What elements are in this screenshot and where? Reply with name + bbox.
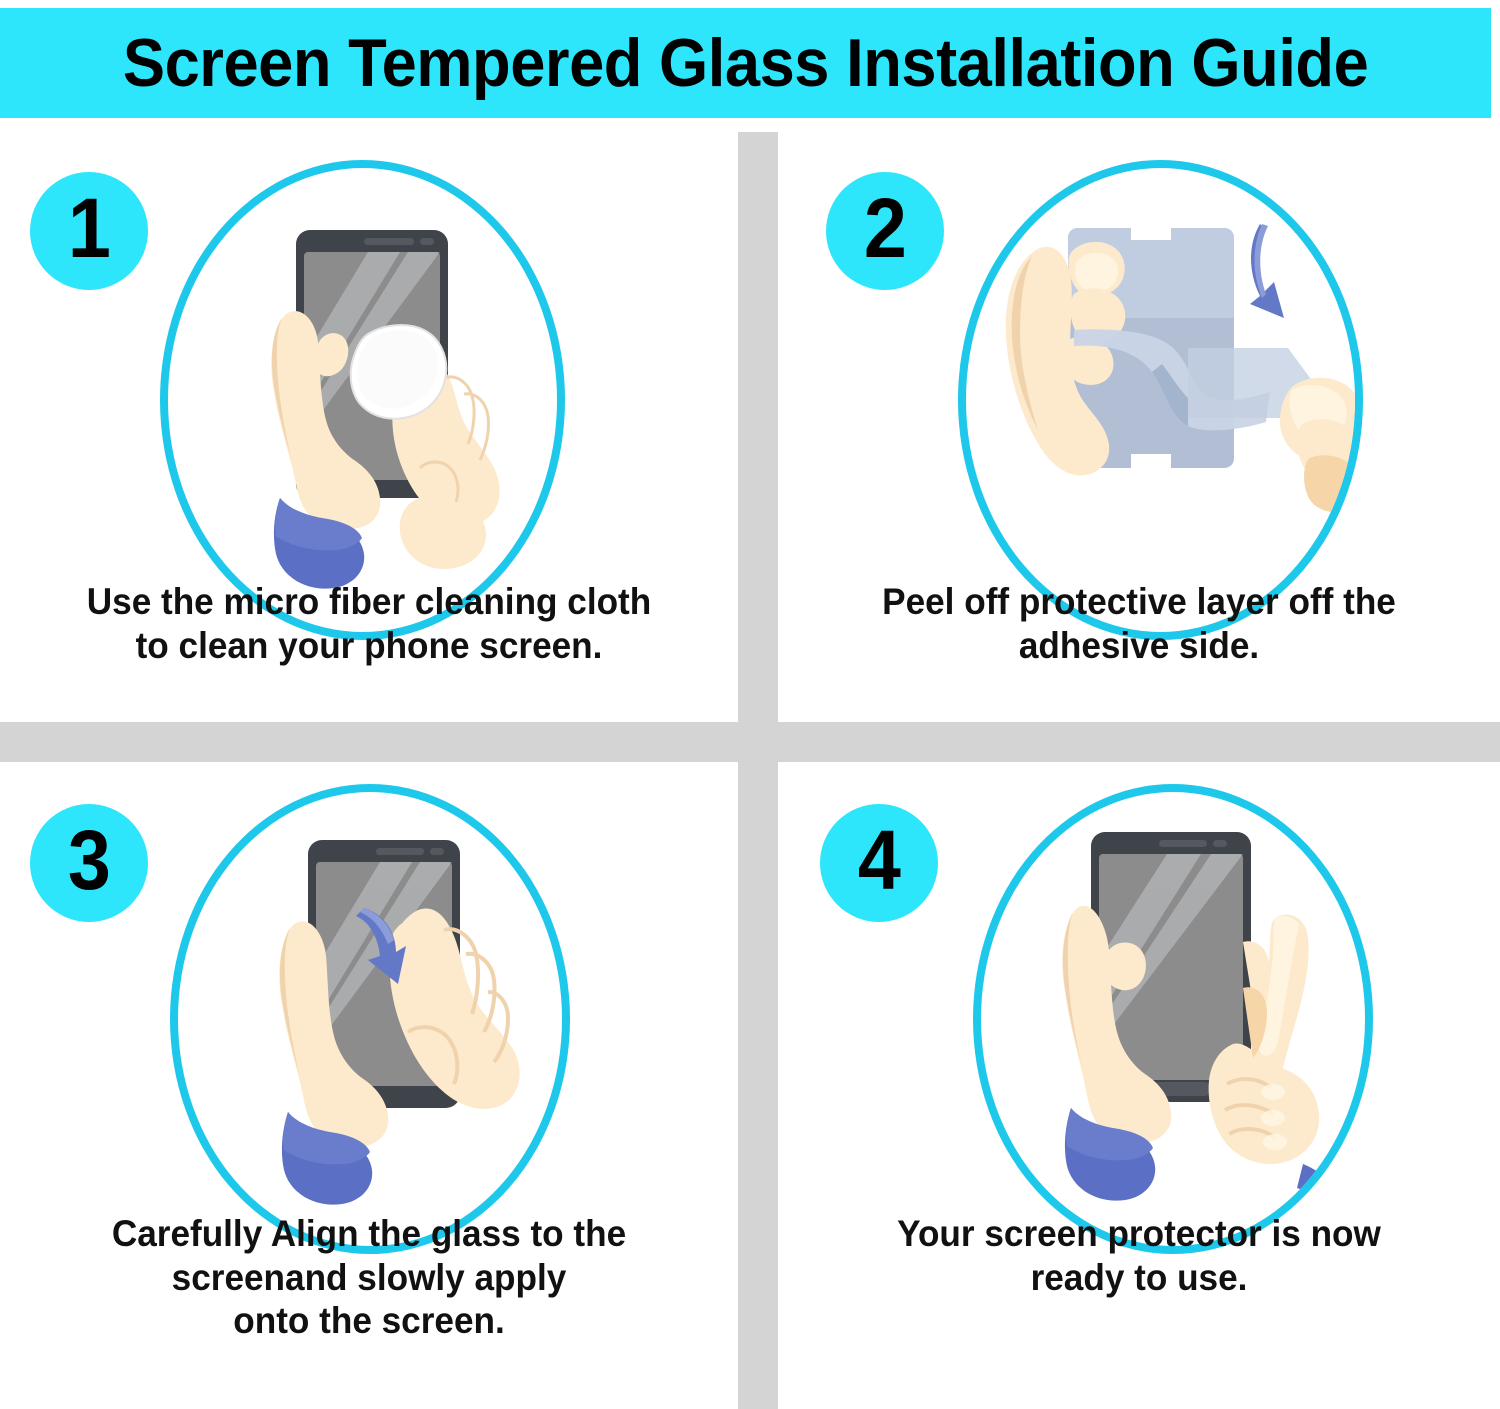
step-panel-2: 2 bbox=[778, 132, 1500, 722]
caption-line: onto the screen. bbox=[18, 1299, 719, 1343]
step-number-badge-2: 2 bbox=[826, 172, 944, 290]
step-caption-4: Your screen protector is now ready to us… bbox=[796, 1212, 1482, 1299]
step-illustration-circle-4 bbox=[973, 784, 1373, 1254]
vertical-divider bbox=[738, 132, 778, 1409]
step-number-4: 4 bbox=[858, 818, 901, 902]
step-caption-2: Peel off protective layer off the adhesi… bbox=[796, 580, 1482, 667]
step-illustration-circle-2 bbox=[958, 160, 1363, 640]
step-number-badge-3: 3 bbox=[30, 804, 148, 922]
caption-line: Use the micro fiber cleaning cloth bbox=[18, 580, 719, 624]
header-banner: Screen Tempered Glass Installation Guide bbox=[0, 8, 1491, 118]
caption-line: Your screen protector is now bbox=[796, 1212, 1482, 1256]
illustration-peeling-film bbox=[966, 168, 1355, 632]
step-panel-3: 3 bbox=[0, 762, 738, 1409]
step-panel-1: 1 bbox=[0, 132, 738, 722]
step-number-3: 3 bbox=[68, 818, 111, 902]
horizontal-divider bbox=[0, 722, 1500, 762]
step-illustration-circle-3 bbox=[170, 784, 570, 1254]
illustration-thumbs-up-done bbox=[981, 792, 1365, 1246]
step-number-1: 1 bbox=[68, 186, 111, 270]
step-number-badge-4: 4 bbox=[820, 804, 938, 922]
infographic-page: Screen Tempered Glass Installation Guide… bbox=[0, 0, 1500, 1409]
illustration-aligning-glass bbox=[178, 792, 562, 1246]
step-caption-1: Use the micro fiber cleaning cloth to cl… bbox=[18, 580, 719, 667]
illustration-cleaning-phone bbox=[168, 168, 557, 632]
caption-line: Peel off protective layer off the bbox=[796, 580, 1482, 624]
caption-line: screenand slowly apply bbox=[18, 1256, 719, 1300]
step-panel-4: 4 bbox=[778, 762, 1500, 1409]
step-number-2: 2 bbox=[864, 186, 907, 270]
page-title: Screen Tempered Glass Installation Guide bbox=[123, 24, 1368, 102]
step-number-badge-1: 1 bbox=[30, 172, 148, 290]
caption-line: Carefully Align the glass to the bbox=[18, 1212, 719, 1256]
step-caption-3: Carefully Align the glass to the screena… bbox=[18, 1212, 719, 1343]
caption-line: to clean your phone screen. bbox=[18, 624, 719, 668]
step-illustration-circle-1 bbox=[160, 160, 565, 640]
caption-line: adhesive side. bbox=[796, 624, 1482, 668]
caption-line: ready to use. bbox=[796, 1256, 1482, 1300]
